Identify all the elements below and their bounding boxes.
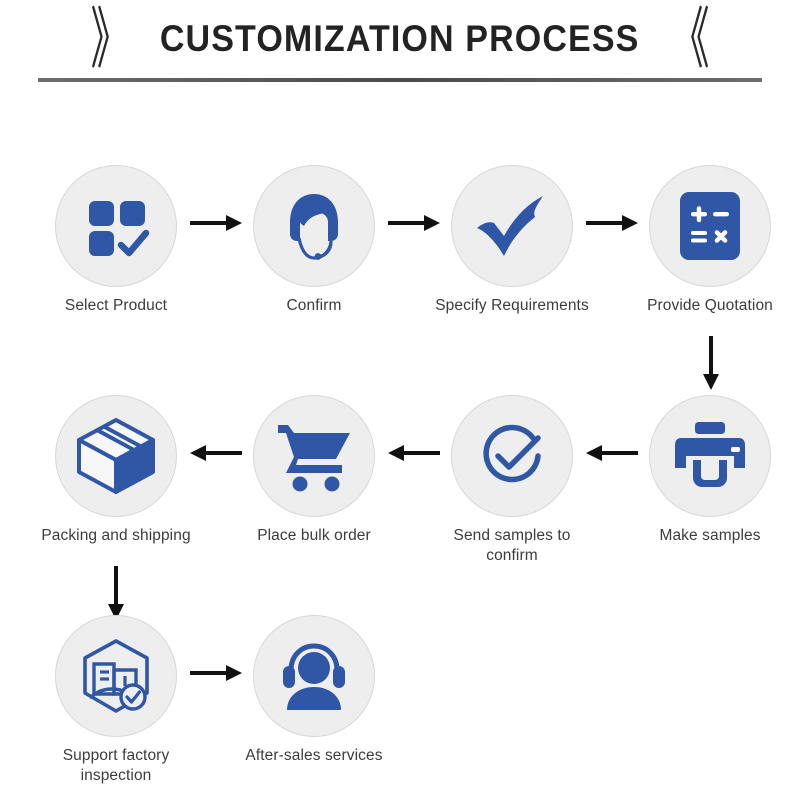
double-chevron-right-icon: 》: [91, 6, 130, 73]
printer-icon: [671, 420, 749, 492]
double-chevron-left-icon: 《: [670, 6, 709, 73]
flow-step-provide-quotation[interactable]: Provide Quotation: [630, 165, 790, 316]
step-icon-circle: [253, 395, 375, 517]
step-icon-circle: [55, 615, 177, 737]
step-icon-circle: [649, 165, 771, 287]
step-icon-circle: [451, 165, 573, 287]
flow-step-packing-and-shipping[interactable]: Packing and shipping: [36, 395, 196, 546]
factory-inspection-icon: [76, 636, 156, 716]
flow-step-specify-requirements[interactable]: Specify Requirements: [432, 165, 592, 316]
header-divider: [38, 78, 762, 82]
title-row: 》 CUSTOMIZATION PROCESS 《: [0, 8, 800, 70]
package-box-icon: [75, 416, 157, 496]
step-icon-circle: [253, 165, 375, 287]
shopping-cart-icon: [274, 419, 354, 493]
step-label: Send samples to confirm: [432, 526, 592, 567]
connector-arrow-down: [105, 566, 127, 620]
flow-step-confirm[interactable]: Confirm: [234, 165, 394, 316]
flow-step-select-product[interactable]: Select Product: [36, 165, 196, 316]
grid-check-icon: [81, 191, 151, 261]
step-label: Confirm: [234, 296, 394, 316]
step-icon-circle: [55, 395, 177, 517]
step-label: Specify Requirements: [432, 296, 592, 316]
step-label: After-sales services: [234, 746, 394, 766]
calculator-icon: [677, 189, 743, 263]
page-header: 》 CUSTOMIZATION PROCESS 《: [0, 0, 800, 100]
flow-step-make-samples[interactable]: Make samples: [630, 395, 790, 546]
step-icon-circle: [649, 395, 771, 517]
step-label: Packing and shipping: [36, 526, 196, 546]
step-icon-circle: [55, 165, 177, 287]
flow-step-place-bulk-order[interactable]: Place bulk order: [234, 395, 394, 546]
step-label: Make samples: [630, 526, 790, 546]
step-label: Support factory inspection: [36, 746, 196, 787]
step-icon-circle: [451, 395, 573, 517]
connector-arrow-down: [700, 336, 722, 390]
flow-step-after-sales-services[interactable]: After-sales services: [234, 615, 394, 766]
circle-check-icon: [474, 418, 550, 494]
step-icon-circle: [253, 615, 375, 737]
step-label: Place bulk order: [234, 526, 394, 546]
checkmark-icon: [473, 190, 551, 262]
step-label: Select Product: [36, 296, 196, 316]
flow-step-support-factory-inspection[interactable]: Support factory inspection: [36, 615, 196, 787]
flow-step-send-samples-to-confirm[interactable]: Send samples to confirm: [432, 395, 592, 567]
support-agent-icon: [275, 640, 353, 712]
step-label: Provide Quotation: [630, 296, 790, 316]
page-title: CUSTOMIZATION PROCESS: [160, 18, 640, 60]
operator-headset-icon: [274, 186, 354, 266]
